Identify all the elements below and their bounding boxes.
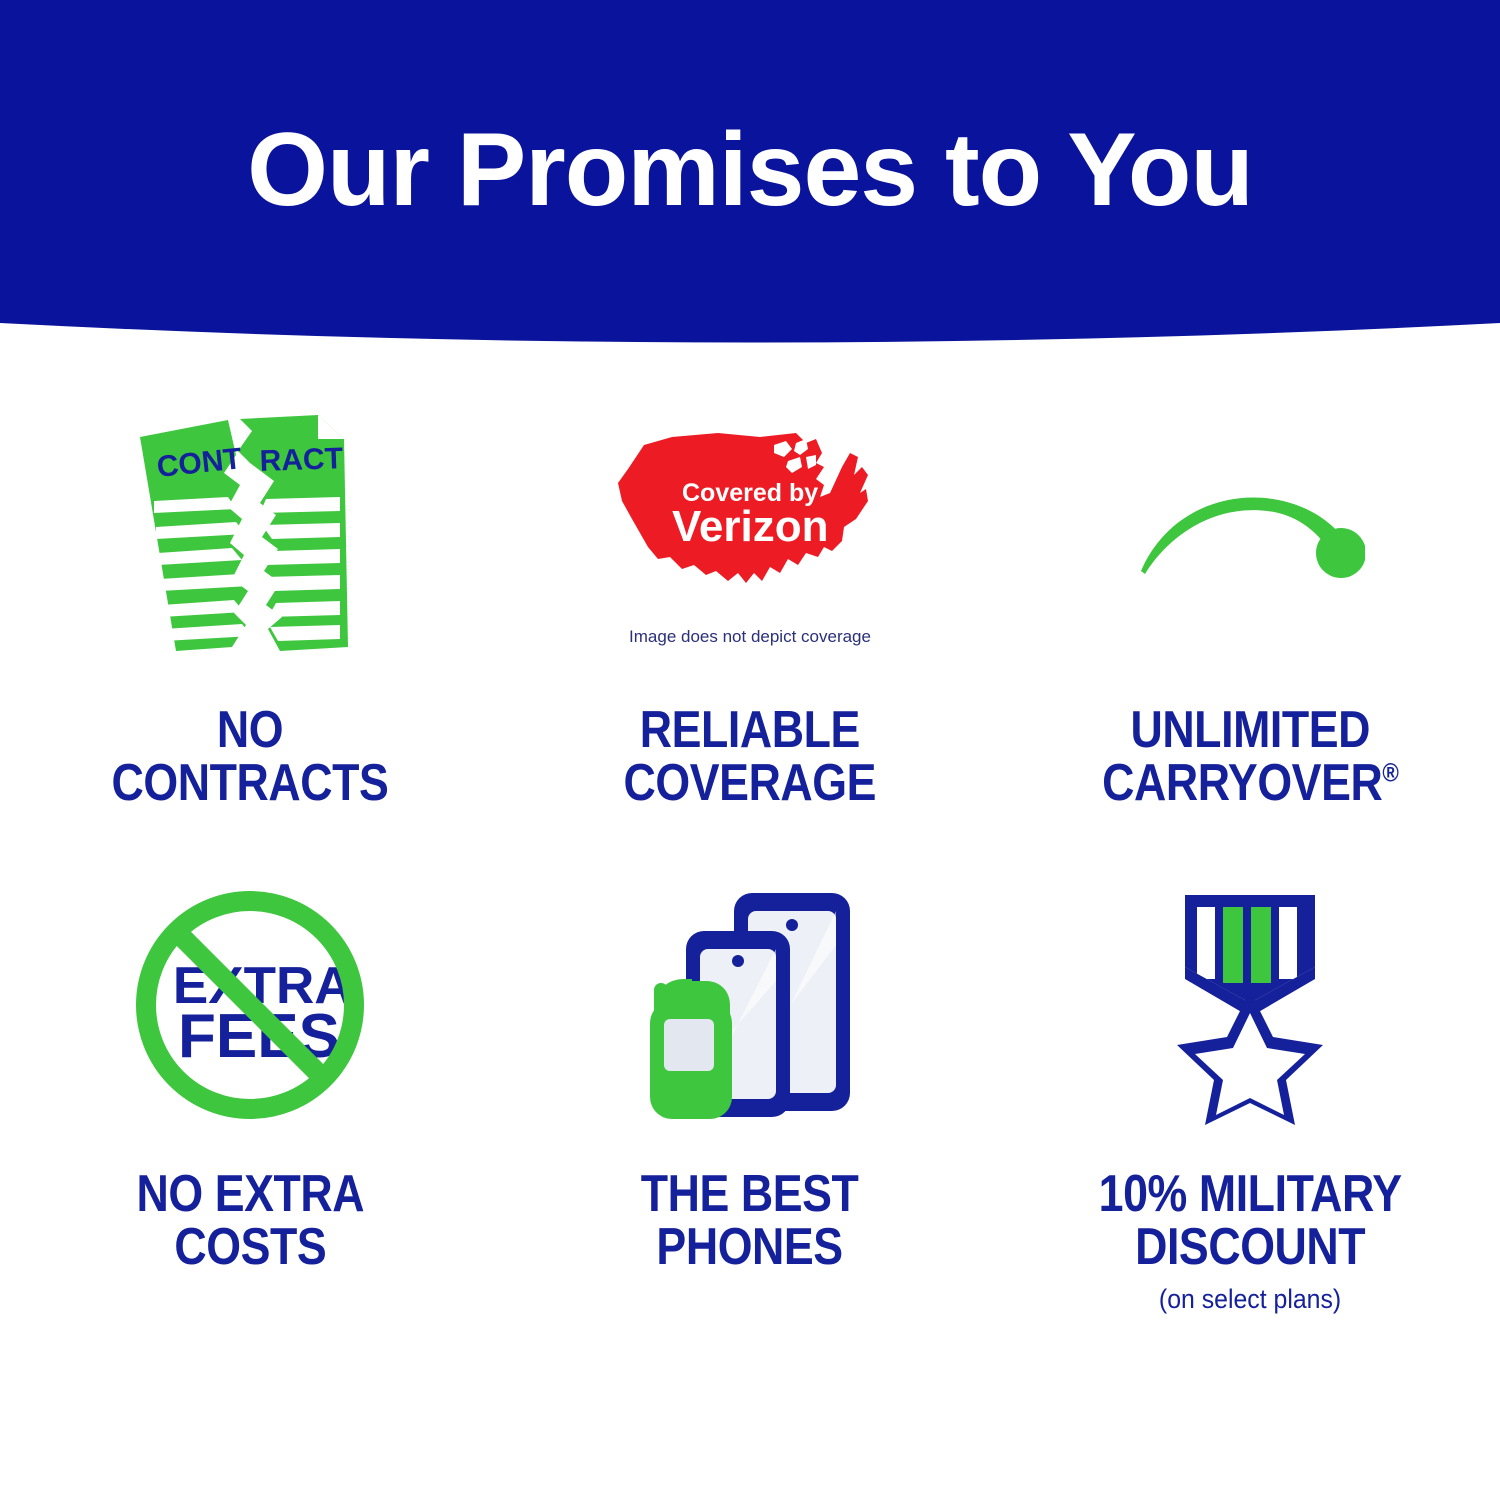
devices-phones-icon <box>630 885 870 1125</box>
usa-coverage-map-icon: Covered by Verizon <box>610 423 890 603</box>
icon-slot <box>500 880 1000 1130</box>
icon-slot: EXTRA FEES <box>0 880 500 1130</box>
icon-slot <box>1000 880 1500 1130</box>
feature-card-the-best-phones: THE BEST PHONES <box>500 870 1000 1340</box>
feature-label-text: UNLIMITED CARRYOVER <box>1102 701 1382 812</box>
carryover-arc-icon <box>1135 475 1365 595</box>
feature-label: RELIABLE COVERAGE <box>624 704 877 810</box>
map-text-verizon: Verizon <box>672 502 829 551</box>
map-caption: Image does not depict coverage <box>629 627 871 647</box>
registered-mark: ® <box>1382 758 1398 788</box>
feature-card-unlimited-carryover: UNLIMITED CARRYOVER® <box>1000 400 1500 870</box>
feature-card-reliable-coverage: Covered by Verizon Image does not depict… <box>500 400 1000 870</box>
no-extra-fees-icon: EXTRA FEES <box>130 885 370 1125</box>
contract-text-right: RACT <box>259 442 343 478</box>
feature-grid: CONT RACT NO CONTRACTS Covered by Verizo… <box>0 400 1500 1460</box>
feature-sublabel: (on select plans) <box>1159 1284 1341 1315</box>
icon-slot <box>1000 410 1500 660</box>
feature-card-no-contracts: CONT RACT NO CONTRACTS <box>0 400 500 870</box>
icon-slot: Covered by Verizon Image does not depict… <box>500 410 1000 660</box>
feature-label: 10% MILITARY DISCOUNT <box>1099 1168 1402 1274</box>
feature-label: NO EXTRA COSTS <box>136 1168 364 1274</box>
feature-label: UNLIMITED CARRYOVER® <box>1102 704 1398 810</box>
torn-contract-icon: CONT RACT <box>132 415 368 655</box>
icon-slot: CONT RACT <box>0 410 500 660</box>
feature-label: THE BEST PHONES <box>641 1168 859 1274</box>
page-title: Our Promises to You <box>0 118 1500 222</box>
feature-card-no-extra-costs: EXTRA FEES NO EXTRA COSTS <box>0 870 500 1340</box>
military-medal-icon <box>1155 885 1345 1125</box>
feature-card-military-discount: 10% MILITARY DISCOUNT (on select plans) <box>1000 870 1500 1340</box>
header-banner: Our Promises to You <box>0 0 1500 360</box>
feature-label: NO CONTRACTS <box>112 704 389 810</box>
